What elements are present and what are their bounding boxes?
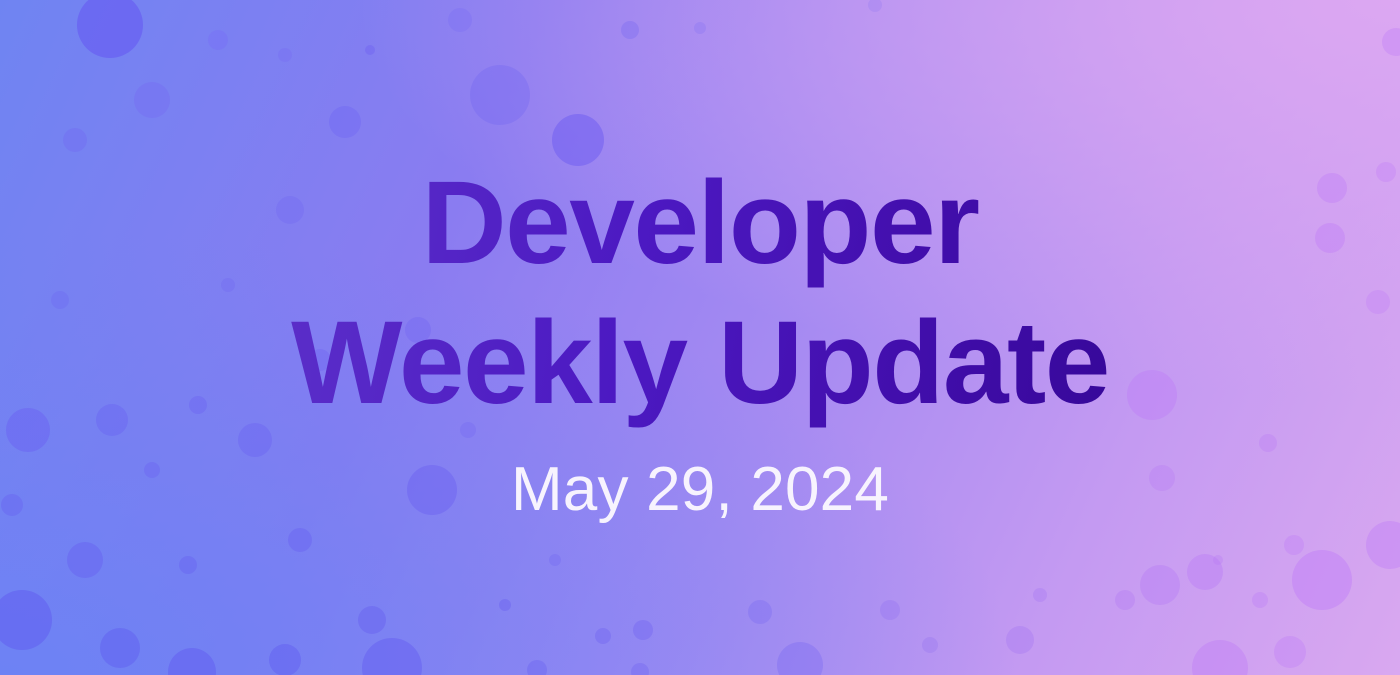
- slide-content: Developer Weekly Update May 29, 2024: [0, 0, 1400, 675]
- page-title: Developer Weekly Update: [291, 154, 1109, 432]
- title-line-2: Weekly Update: [291, 294, 1109, 433]
- presentation-slide: Developer Weekly Update May 29, 2024: [0, 0, 1400, 675]
- slide-subtitle-date: May 29, 2024: [511, 433, 889, 521]
- title-line-1: Developer: [291, 154, 1109, 293]
